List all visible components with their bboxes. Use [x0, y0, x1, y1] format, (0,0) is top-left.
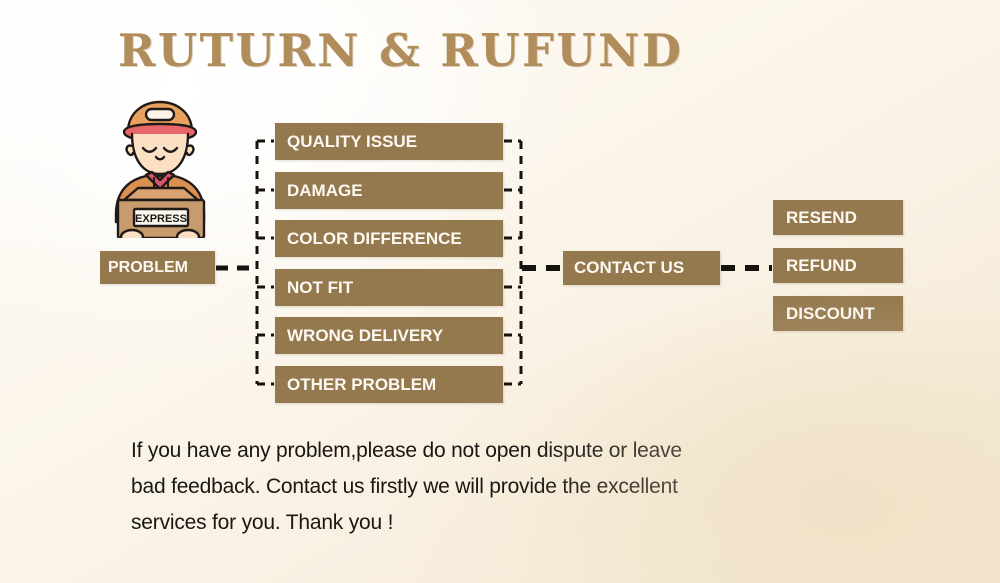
flow-node-color-difference[interactable]: COLOR DIFFERENCE	[275, 220, 503, 257]
returns-policy-graphic: RUTURN & RUFUND	[0, 0, 1000, 583]
flow-node-discount[interactable]: DISCOUNT	[773, 296, 903, 331]
policy-note-line-2: bad feedback. Contact us firstly we will…	[131, 469, 831, 505]
reason-label-5: WRONG DELIVERY	[287, 326, 443, 346]
reason-label-3: COLOR DIFFERENCE	[287, 229, 462, 249]
flow-node-not-fit[interactable]: NOT FIT	[275, 269, 503, 306]
flow-node-refund[interactable]: REFUND	[773, 248, 903, 283]
flow-node-problem[interactable]: PROBLEM	[100, 251, 215, 284]
outcome-label-2: REFUND	[786, 256, 857, 276]
flow-node-problem-label: PROBLEM	[108, 259, 188, 277]
outcome-label-1: RESEND	[786, 208, 857, 228]
reason-label-4: NOT FIT	[287, 278, 353, 298]
reason-label-2: DAMAGE	[287, 181, 363, 201]
policy-note-line-1: If you have any problem,please do not op…	[131, 433, 831, 469]
policy-note-line-3: services for you. Thank you !	[131, 505, 831, 541]
reason-label-6: OTHER PROBLEM	[287, 375, 436, 395]
outcome-label-3: DISCOUNT	[786, 304, 875, 324]
reason-label-1: QUALITY ISSUE	[287, 132, 417, 152]
flow-node-contact-us-label: CONTACT US	[574, 258, 684, 278]
flow-node-damage[interactable]: DAMAGE	[275, 172, 503, 209]
flow-node-other-problem[interactable]: OTHER PROBLEM	[275, 366, 503, 403]
policy-note: If you have any problem,please do not op…	[131, 433, 831, 541]
flow-node-quality-issue[interactable]: QUALITY ISSUE	[275, 123, 503, 160]
flow-node-resend[interactable]: RESEND	[773, 200, 903, 235]
flow-node-contact-us[interactable]: CONTACT US	[563, 251, 720, 285]
flow-node-wrong-delivery[interactable]: WRONG DELIVERY	[275, 317, 503, 354]
